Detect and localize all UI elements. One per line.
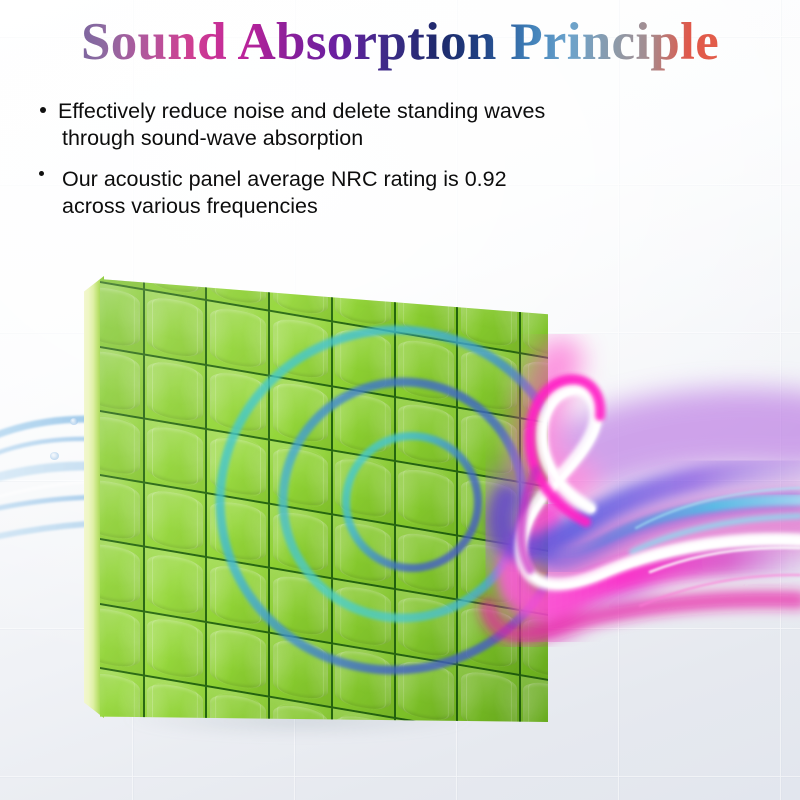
panel-tile bbox=[396, 333, 459, 408]
panel-tile bbox=[100, 473, 145, 548]
panel-tile bbox=[333, 451, 396, 526]
panel-tile bbox=[396, 397, 459, 472]
panel-tile bbox=[100, 280, 145, 355]
panel-tile bbox=[270, 633, 333, 708]
slide-canvas: Sound Absorption Principle Effectively r… bbox=[0, 0, 800, 800]
panel-tile bbox=[396, 462, 459, 537]
panel-tile bbox=[521, 547, 548, 622]
panel-tile bbox=[458, 537, 521, 612]
acoustic-panel-graphic bbox=[0, 0, 800, 800]
panel-tile bbox=[458, 665, 521, 722]
panel-tile bbox=[208, 494, 271, 569]
panel-tile bbox=[333, 322, 396, 397]
panel-tile bbox=[333, 644, 396, 719]
panel-tile bbox=[333, 580, 396, 655]
panel-tile bbox=[521, 354, 548, 429]
panel-tile bbox=[458, 279, 521, 354]
panel-tile bbox=[458, 408, 521, 483]
panel-tile bbox=[208, 366, 271, 441]
panel-tile bbox=[396, 654, 459, 722]
panel-tile-grid bbox=[100, 270, 548, 722]
panel-tile bbox=[270, 376, 333, 451]
panel-tile bbox=[208, 558, 271, 633]
panel-tile bbox=[333, 387, 396, 462]
panel-tile bbox=[145, 291, 208, 366]
panel-tile bbox=[521, 676, 548, 722]
panel-tile bbox=[270, 312, 333, 387]
panel-tile bbox=[100, 601, 145, 676]
panel-tile bbox=[145, 419, 208, 494]
panel-tile bbox=[521, 611, 548, 686]
panel-tile bbox=[208, 430, 271, 505]
acoustic-panel bbox=[100, 270, 548, 722]
panel-tile bbox=[100, 537, 145, 612]
panel-tile bbox=[208, 301, 271, 376]
panel-tile bbox=[396, 526, 459, 601]
panel-tile bbox=[396, 590, 459, 665]
panel-tile bbox=[458, 601, 521, 676]
panel-tile bbox=[270, 569, 333, 644]
panel-tile bbox=[458, 344, 521, 419]
panel-tile bbox=[208, 623, 271, 698]
panel-tile bbox=[396, 270, 459, 344]
panel-tile bbox=[145, 355, 208, 430]
panel-tile bbox=[333, 515, 396, 590]
panel-tile bbox=[100, 344, 145, 419]
panel-tile bbox=[145, 483, 208, 558]
panel-tile bbox=[145, 612, 208, 687]
panel-tile bbox=[521, 483, 548, 558]
panel-tile bbox=[521, 419, 548, 494]
panel-tile bbox=[270, 440, 333, 515]
panel-tile bbox=[458, 472, 521, 547]
panel-tile bbox=[270, 505, 333, 580]
panel-tile bbox=[521, 290, 548, 365]
panel-tile bbox=[145, 548, 208, 623]
panel-tile bbox=[100, 409, 145, 484]
